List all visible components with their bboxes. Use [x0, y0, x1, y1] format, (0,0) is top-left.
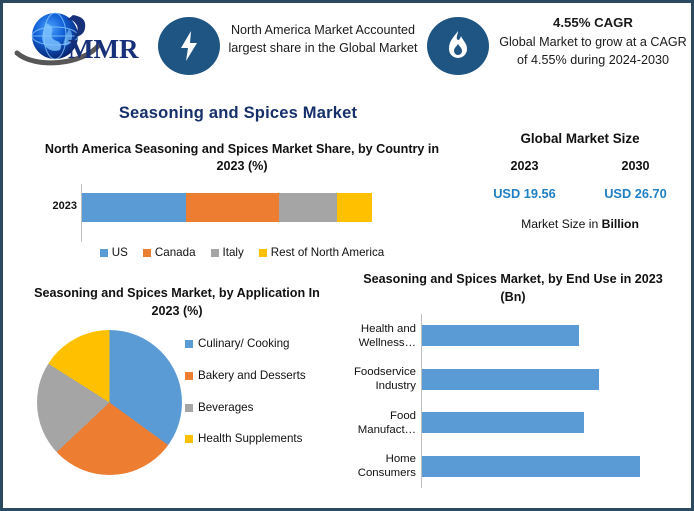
stacked-segment-rest-of-north-america: [337, 193, 372, 222]
unit-note-prefix: Market Size in: [521, 217, 602, 231]
market-size-unit-note: Market Size in Billion: [469, 217, 691, 231]
cagr-callout: 4.55% CAGR Global Market to grow at a CA…: [495, 13, 691, 70]
end-use-bar: [422, 325, 579, 346]
global-market-size-values: USD 19.56 USD 26.70: [469, 186, 691, 201]
legend-swatch-icon: [185, 404, 193, 412]
legend-label: Canada: [155, 246, 196, 259]
page-title: Seasoning and Spices Market: [3, 104, 473, 123]
svg-text:MMR: MMR: [68, 34, 139, 64]
category-label-2023: 2023: [25, 200, 77, 212]
year-label-2023: 2023: [469, 159, 580, 173]
legend-label: Rest of North America: [271, 246, 384, 259]
unit-note-value: Billion: [602, 217, 639, 231]
legend-item-italy: Italy: [211, 246, 244, 259]
cagr-description: Global Market to grow at a CAGR of 4.55%…: [499, 35, 687, 67]
application-share-chart: Seasoning and Spices Market, by Applicat…: [17, 285, 337, 507]
end-use-row: Home Consumers: [335, 445, 691, 488]
legend-label: Italy: [223, 246, 244, 259]
legend-swatch-icon: [185, 372, 193, 380]
lightning-bolt-icon: [158, 17, 220, 75]
north-america-share-chart: North America Seasoning and Spices Marke…: [17, 141, 467, 263]
legend-item-beverages: Beverages: [185, 400, 335, 416]
end-use-category-label: Home Consumers: [335, 452, 419, 481]
legend-swatch-icon: [185, 340, 193, 348]
end-use-category-label: Health and Wellness…: [335, 322, 419, 351]
end-use-row: Health and Wellness…: [335, 314, 691, 357]
pie-chart: [37, 330, 182, 475]
legend-label: Beverages: [198, 400, 253, 416]
end-use-bar: [422, 369, 599, 390]
end-use-category-label: Food Manufact…: [335, 409, 419, 438]
value-2030: USD 26.70: [580, 186, 691, 201]
legend-north-america-share: USCanadaItalyRest of North America: [17, 246, 467, 259]
legend-swatch-icon: [259, 249, 267, 257]
stacked-segment-italy: [279, 193, 337, 222]
chart-title-application-share: Seasoning and Spices Market, by Applicat…: [32, 285, 322, 320]
legend-label: Bakery and Desserts: [198, 368, 306, 384]
legend-label: Health Supplements: [198, 431, 302, 447]
legend-item-health-supplements: Health Supplements: [185, 431, 335, 447]
end-use-plot-area: Health and Wellness…Foodservice Industry…: [335, 314, 691, 488]
header-band: MMR North America Market Accounted large…: [3, 3, 691, 91]
end-use-category-label: Foodservice Industry: [335, 365, 419, 394]
end-use-bar: [422, 412, 584, 433]
legend-item-canada: Canada: [143, 246, 196, 259]
legend-swatch-icon: [185, 435, 193, 443]
legend-label: US: [112, 246, 128, 259]
global-market-size-years: 2023 2030: [469, 159, 691, 173]
legend-item-culinary-cooking: Culinary/ Cooking: [185, 336, 335, 352]
global-market-size-panel: Global Market Size 2023 2030 USD 19.56 U…: [469, 131, 691, 261]
legend-application-share: Culinary/ CookingBakery and DessertsBeve…: [185, 336, 335, 463]
legend-label: Culinary/ Cooking: [198, 336, 290, 352]
global-market-size-title: Global Market Size: [469, 131, 691, 146]
stacked-bar: [82, 193, 372, 222]
end-use-bar: [422, 456, 640, 477]
legend-swatch-icon: [211, 249, 219, 257]
chart-title-end-use: Seasoning and Spices Market, by End Use …: [358, 271, 668, 306]
stacked-segment-canada: [186, 193, 279, 222]
end-use-chart: Seasoning and Spices Market, by End Use …: [335, 271, 691, 507]
legend-swatch-icon: [143, 249, 151, 257]
infographic-canvas: MMR North America Market Accounted large…: [0, 0, 694, 511]
flame-icon: [427, 17, 489, 75]
mmr-globe-logo: MMR: [13, 9, 143, 71]
legend-item-bakery-and-desserts: Bakery and Desserts: [185, 368, 335, 384]
cagr-headline: 4.55% CAGR: [495, 13, 691, 32]
legend-item-us: US: [100, 246, 128, 259]
legend-swatch-icon: [100, 249, 108, 257]
pie-plot-area: Culinary/ CookingBakery and DessertsBeve…: [17, 328, 337, 500]
chart-title-north-america-share: North America Seasoning and Spices Marke…: [32, 141, 452, 175]
stacked-segment-us: [82, 193, 186, 222]
north-america-callout: North America Market Accounted largest s…: [227, 21, 419, 58]
value-2023: USD 19.56: [469, 186, 580, 201]
year-label-2030: 2030: [580, 159, 691, 173]
legend-item-rest-of-north-america: Rest of North America: [259, 246, 384, 259]
stacked-bar-plot-area: 2023: [17, 184, 467, 242]
end-use-row: Foodservice Industry: [335, 358, 691, 401]
end-use-row: Food Manufact…: [335, 401, 691, 444]
